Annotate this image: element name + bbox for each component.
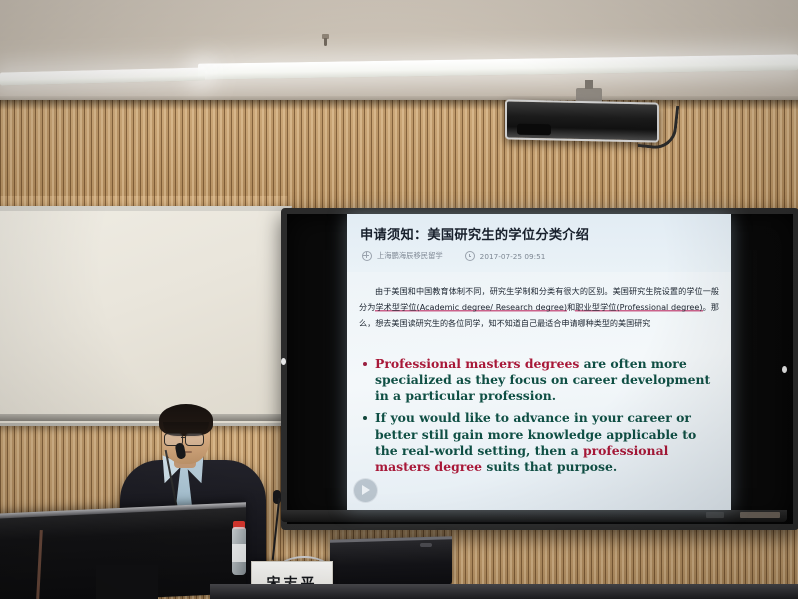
slide-byline-timestamp: 2017-07-25 09:51 bbox=[480, 252, 546, 261]
slide-bullet-2-run-2: suits that purpose. bbox=[482, 459, 617, 474]
lecture-hall-photo: 申请须知：美国研究生的学位分类介绍 上海鹏海辰移民留学 2017-07-25 0… bbox=[0, 0, 798, 599]
laptop[interactable] bbox=[330, 536, 452, 587]
fire-sprinkler-icon bbox=[320, 34, 331, 47]
clock-icon bbox=[465, 251, 475, 261]
projector-lens-icon bbox=[517, 124, 551, 136]
slide-byline-source: 上海鹏海辰移民留学 bbox=[377, 251, 443, 261]
water-bottle-center-label bbox=[232, 544, 246, 562]
panel-reflection-right bbox=[782, 366, 787, 373]
slide-paragraph: 由于美国和中国教育体制不同，研究生学制和分类有很大的区别。美国研究生院设置的学位… bbox=[359, 284, 719, 331]
glasses-bridge-icon bbox=[181, 437, 185, 438]
ceiling-projector bbox=[505, 99, 659, 142]
whiteboard bbox=[0, 206, 292, 426]
slide-bullet-1-run-0: Professional masters degrees bbox=[375, 356, 579, 371]
slide-title: 申请须知：美国研究生的学位分类介绍 bbox=[360, 224, 589, 243]
projected-slide[interactable]: 申请须知：美国研究生的学位分类介绍 上海鹏海辰移民留学 2017-07-25 0… bbox=[347, 214, 731, 510]
podium-monitor-stand bbox=[96, 565, 158, 599]
play-button-icon[interactable] bbox=[353, 478, 378, 503]
slide-byline: 上海鹏海辰移民留学 2017-07-25 09:51 bbox=[362, 251, 545, 261]
slide-paragraph-run-1: 学术型学位(Academic degree/ Research degree) bbox=[375, 302, 567, 312]
ceiling bbox=[0, 0, 798, 100]
laptop-hinge bbox=[420, 543, 432, 547]
panel-reflection-left bbox=[281, 358, 286, 365]
slide-bullet-1: Professional masters degrees are often m… bbox=[361, 356, 721, 404]
display-panel-control-strip[interactable] bbox=[740, 512, 780, 518]
table-front-edge bbox=[210, 584, 798, 599]
globe-icon bbox=[362, 251, 372, 261]
presenter-hair bbox=[159, 404, 213, 436]
slide-bullet-2: If you would like to advance in your car… bbox=[361, 410, 721, 475]
slide-header bbox=[347, 214, 731, 272]
slide-bullet-list: Professional masters degrees are often m… bbox=[361, 356, 721, 481]
glasses-lens-right-icon bbox=[185, 433, 204, 446]
slide-paragraph-run-3: 职业型学位(Professional degree) bbox=[575, 302, 702, 312]
display-panel-port bbox=[706, 512, 724, 518]
